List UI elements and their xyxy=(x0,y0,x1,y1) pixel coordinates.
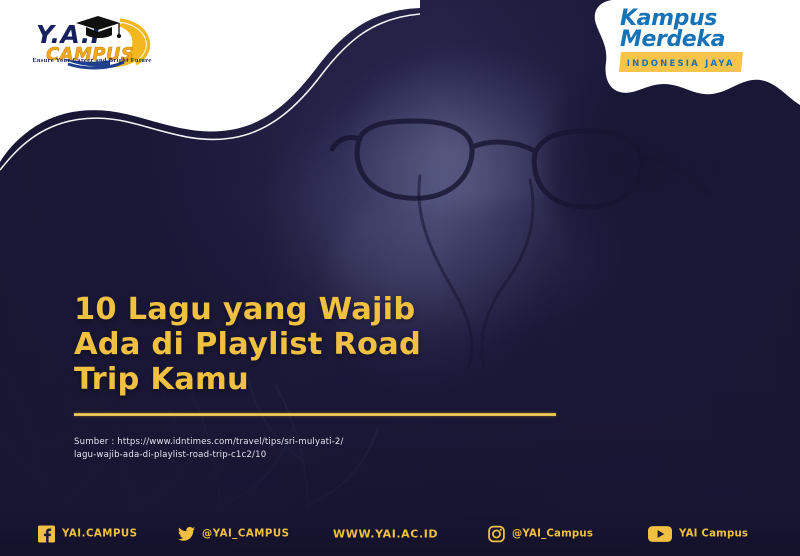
social-footer: YAI.CAMPUS @YAI_CAMPUS WWW.YAI.AC.ID @YA… xyxy=(0,512,800,556)
social-twitter[interactable]: @YAI_CAMPUS xyxy=(178,526,289,543)
youtube-handle: YAI Campus xyxy=(679,529,748,540)
yai-logo-tagline: Ensure Your Career and Bright Future xyxy=(26,57,158,64)
twitter-handle: @YAI_CAMPUS xyxy=(202,529,289,540)
kampus-merdeka-logo: Kampus Merdeka INDONESIA JAYA xyxy=(620,8,772,70)
poster-title: 10 Lagu yang Wajib Ada di Playlist Road … xyxy=(74,292,594,397)
poster-canvas: Y.A.I CAMPUS Ensure Your Career and Brig… xyxy=(0,0,800,556)
twitter-icon xyxy=(178,526,195,543)
source-attribution: Sumber : https://www.idntimes.com/travel… xyxy=(74,436,514,461)
social-website[interactable]: WWW.YAI.AC.ID xyxy=(333,528,438,541)
website-url: WWW.YAI.AC.ID xyxy=(333,528,438,541)
kampus-merdeka-ribbon-label: INDONESIA JAYA xyxy=(627,59,735,69)
youtube-icon xyxy=(648,526,672,543)
gold-divider xyxy=(74,413,556,416)
social-youtube[interactable]: YAI Campus xyxy=(648,526,748,543)
social-facebook[interactable]: YAI.CAMPUS xyxy=(38,526,138,543)
title-line-1: 10 Lagu yang Wajib xyxy=(74,292,594,327)
kampus-merdeka-line2: Merdeka xyxy=(620,29,772,50)
facebook-icon xyxy=(38,526,55,543)
social-instagram[interactable]: @YAI_Campus xyxy=(488,526,593,543)
source-line-1: Sumber : https://www.idntimes.com/travel… xyxy=(74,436,514,449)
title-line-3: Trip Kamu xyxy=(74,362,594,397)
kampus-merdeka-line1: Kampus xyxy=(620,8,772,29)
title-line-2: Ada di Playlist Road xyxy=(74,327,594,362)
facebook-handle: YAI.CAMPUS xyxy=(62,529,138,540)
instagram-handle: @YAI_Campus xyxy=(512,529,593,540)
source-line-2: lagu-wajib-ada-di-playlist-road-trip-c1c… xyxy=(74,449,514,462)
instagram-icon xyxy=(488,526,505,543)
kampus-merdeka-ribbon: INDONESIA JAYA xyxy=(619,52,743,72)
